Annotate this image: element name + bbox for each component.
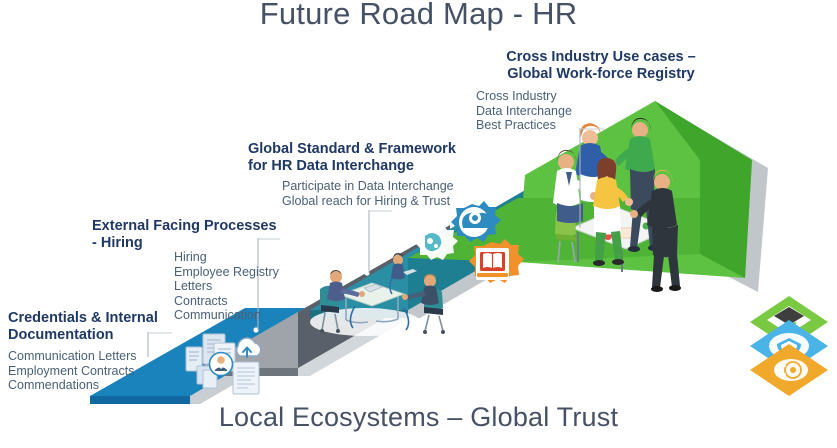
callout-2-item-3: Contracts [174, 294, 279, 309]
callout-3-heading-line2: for HR Data Interchange [248, 158, 456, 175]
callout-4-heading-line2: Global Work-force Registry [476, 66, 726, 83]
callout-2-item-2: Letters [174, 279, 279, 294]
callout-3-items: Participate in Data Interchange Global r… [282, 179, 456, 208]
callout-3-heading: Global Standard & Framework for HR Data … [248, 141, 456, 174]
callout-1-item-0: Communication Letters [8, 349, 158, 364]
callout-2-heading-line2: - Hiring [92, 235, 292, 252]
callout-4-heading: Cross Industry Use cases – Global Work-f… [476, 49, 726, 82]
callout-1-items: Communication Letters Employment Contrac… [8, 349, 158, 393]
callout-1-heading-line1: Credentials & Internal [8, 310, 158, 327]
callout-4-items: Cross Industry Data Interchange Best Pra… [476, 89, 726, 133]
callout-1-heading: Credentials & Internal Documentation [8, 310, 158, 343]
page-tagline: Local Ecosystems – Global Trust [0, 402, 837, 433]
callout-1-item-1: Employment Contracts [8, 364, 158, 379]
callout-2-item-1: Employee Registry [174, 265, 279, 280]
callout-credentials: Credentials & Internal Documentation Com… [8, 310, 158, 393]
callout-3-item-0: Participate in Data Interchange [282, 179, 456, 194]
callout-1-item-2: Commendations [8, 378, 158, 393]
callout-4-heading-line1: Cross Industry Use cases – [476, 49, 726, 66]
network-analytics-icon [774, 359, 808, 381]
callout-1-heading-line2: Documentation [8, 327, 158, 344]
callout-global-standard: Global Standard & Framework for HR Data … [248, 141, 456, 208]
callout-2-item-4: Communication [174, 308, 279, 323]
callout-2-heading: External Facing Processes - Hiring [92, 218, 292, 251]
slide-canvas: Future Road Map - HR Credentials & Inter… [0, 0, 837, 448]
callout-cross-industry: Cross Industry Use cases – Global Work-f… [476, 49, 726, 133]
callout-3-item-1: Global reach for Hiring & Trust [282, 194, 456, 209]
callout-2-heading-line1: External Facing Processes [92, 218, 292, 235]
callout-4-item-2: Best Practices [476, 118, 726, 133]
callout-4-item-0: Cross Industry [476, 89, 726, 104]
callout-external-facing: External Facing Processes - Hiring Hirin… [92, 218, 292, 251]
callout-2-items: Hiring Employee Registry Letters Contrac… [174, 250, 279, 323]
page-title: Future Road Map - HR [0, 0, 837, 32]
callout-3-heading-line1: Global Standard & Framework [248, 141, 456, 158]
callout-2-item-0: Hiring [174, 250, 279, 265]
callout-4-item-1: Data Interchange [476, 104, 726, 119]
